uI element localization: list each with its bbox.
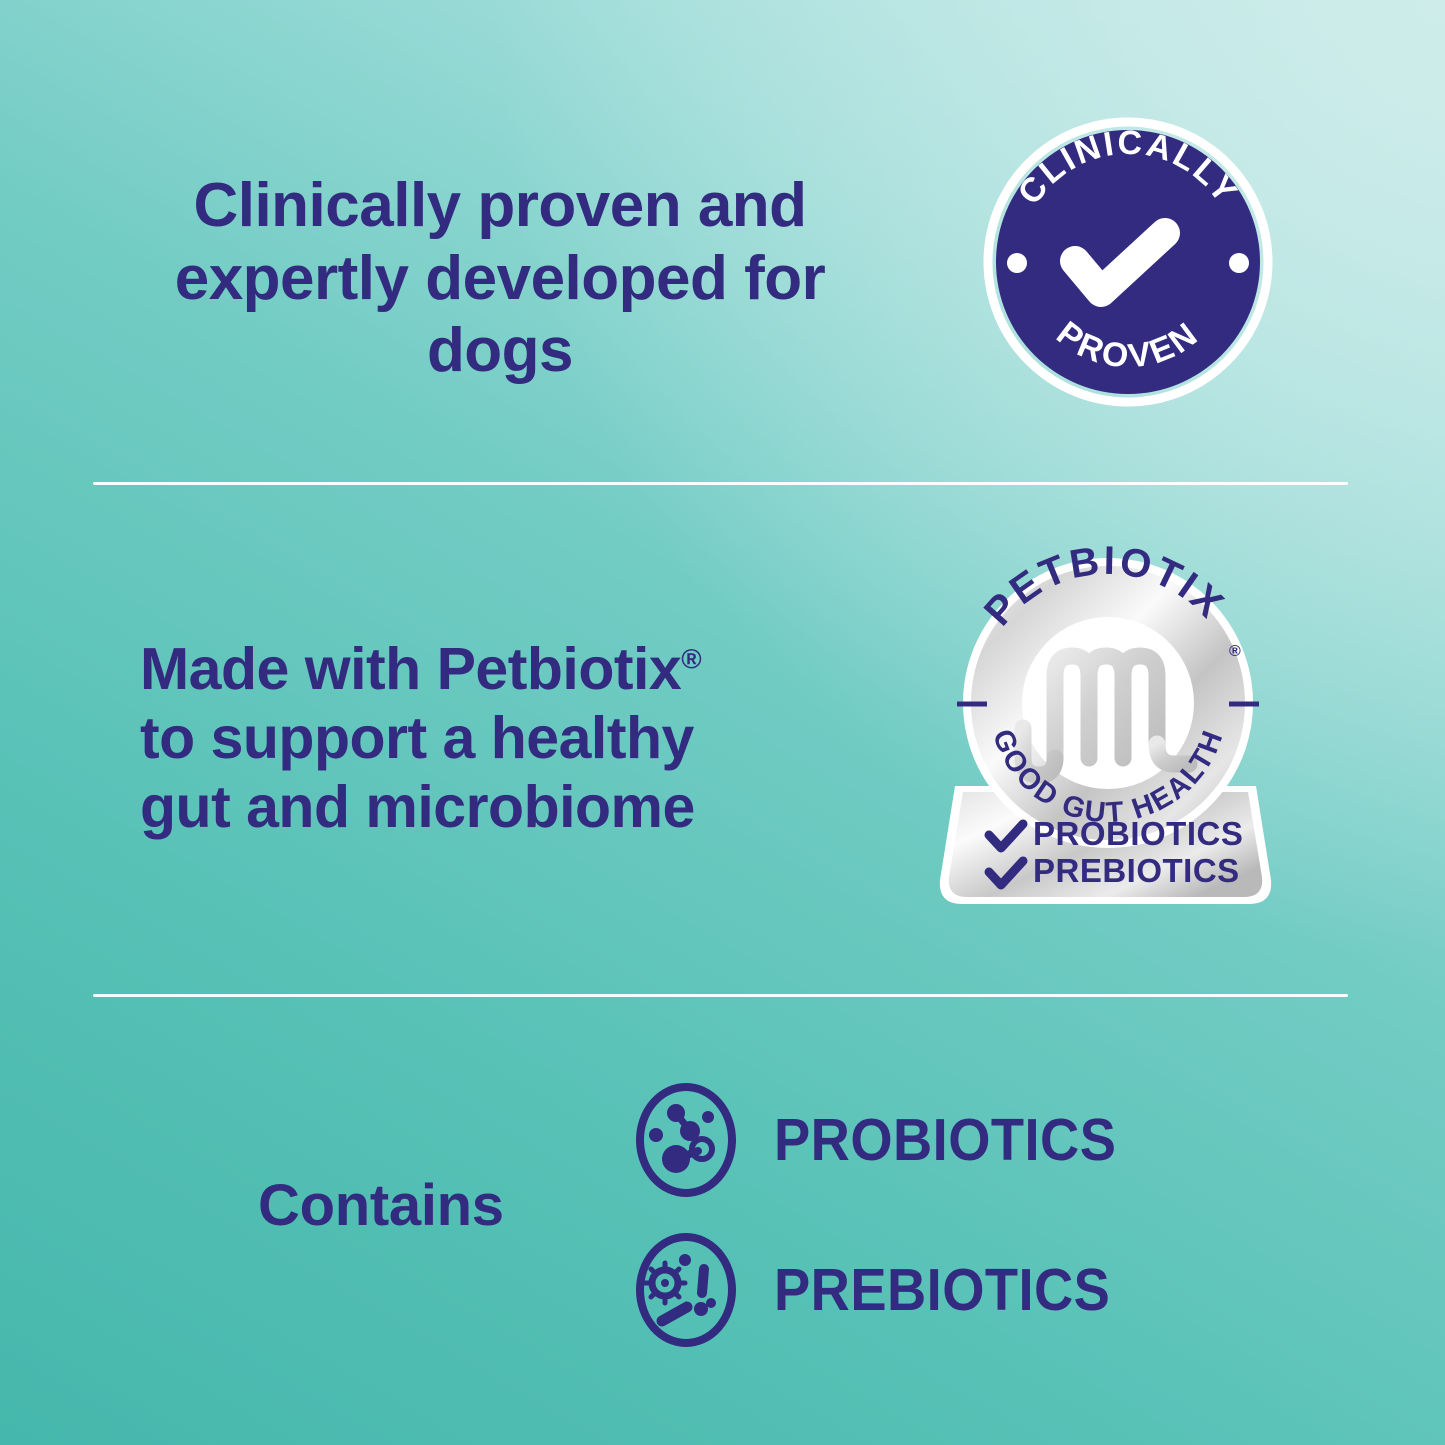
product-claims-panel: Clinically proven and expertly developed… <box>0 0 1445 1445</box>
claim-one-headline: Clinically proven and expertly developed… <box>105 170 895 388</box>
badge-left-dot <box>1007 253 1027 273</box>
prebiotics-cell-icon <box>632 1231 740 1349</box>
probiotics-cell-icon <box>632 1081 740 1199</box>
badge-right-dot <box>1229 253 1249 273</box>
petbiotix-badge: PETBIOTIX ® GOOD GUT HEALTH PROBIOTICS P… <box>933 528 1278 920</box>
divider-two <box>93 994 1348 997</box>
spiky-microbe-glyph <box>645 1263 685 1303</box>
divider-one <box>93 482 1348 485</box>
ingredient-label-probiotics: PROBIOTICS <box>774 1106 1116 1174</box>
plate-label-prebiotics: PREBIOTICS <box>1033 852 1240 889</box>
plate-label-probiotics: PROBIOTICS <box>1033 815 1243 852</box>
ingredient-label-prebiotics: PREBIOTICS <box>774 1256 1110 1324</box>
claim-two-line-2: to support a healthy <box>140 705 694 771</box>
claim-two-line-3: gut and microbiome <box>140 774 695 840</box>
petbiotix-badge-svg: PETBIOTIX ® GOOD GUT HEALTH PROBIOTICS P… <box>933 528 1278 920</box>
claim-two-headline: Made with Petbiotix® to support a health… <box>140 635 900 842</box>
registered-mark: ® <box>681 643 701 674</box>
ingredient-probiotics: PROBIOTICS <box>632 1081 1146 1199</box>
contains-label: Contains <box>258 1172 504 1239</box>
claim-two-line-1: Made with Petbiotix <box>140 636 681 702</box>
ingredient-prebiotics: PREBIOTICS <box>632 1231 1140 1349</box>
clinically-proven-badge-svg: CLINICALLY PROVEN <box>983 117 1273 407</box>
petbiotix-registered-mark: ® <box>1229 643 1241 660</box>
clinically-proven-badge: CLINICALLY PROVEN <box>983 117 1273 407</box>
